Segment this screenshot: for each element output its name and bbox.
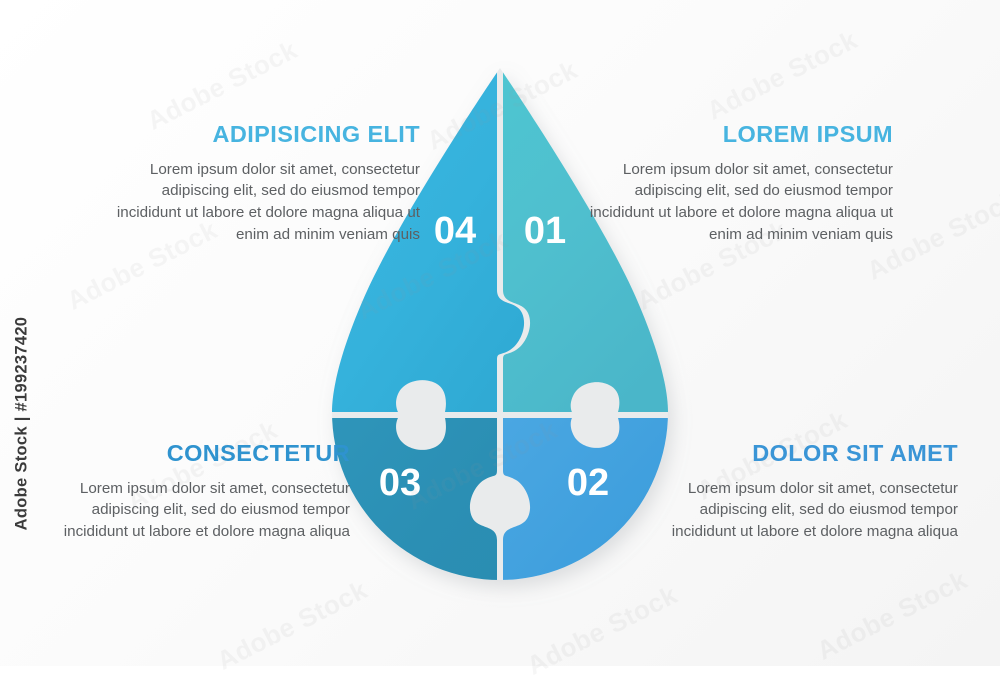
watermark-tile: Adobe Stock — [402, 414, 563, 516]
block-heading-01: LOREM IPSUM — [583, 122, 893, 148]
infographic-canvas: 04 01 03 02 Adobe Stock Adobe Stock Adob… — [0, 0, 1000, 666]
water-drop-puzzle-diagram: 04 01 03 02 — [0, 0, 1000, 666]
text-block-lorem-ipsum: LOREM IPSUM Lorem ipsum dolor sit amet, … — [583, 122, 893, 245]
piece-number-02: 02 — [567, 462, 609, 504]
text-block-consectetur: CONSECTETUR Lorem ipsum dolor sit amet, … — [40, 441, 350, 543]
block-body-02: Lorem ipsum dolor sit amet, consectetur … — [658, 478, 958, 543]
droplet-pieces — [300, 0, 720, 666]
watermark-tile: Adobe Stock — [422, 54, 583, 156]
piece-number-04: 04 — [434, 210, 476, 252]
watermark-tile: Adobe Stock — [702, 24, 863, 126]
stock-id-watermark: Adobe Stock | #199237420 — [13, 314, 32, 534]
block-heading-02: DOLOR SIT AMET — [658, 441, 958, 467]
text-block-dolor-sit-amet: DOLOR SIT AMET Lorem ipsum dolor sit ame… — [658, 441, 958, 543]
block-heading-04: ADIPISICING ELIT — [110, 122, 420, 148]
block-heading-03: CONSECTETUR — [40, 441, 350, 467]
watermark-tile: Adobe Stock — [812, 564, 973, 666]
block-body-03: Lorem ipsum dolor sit amet, consectetur … — [40, 478, 350, 543]
block-body-01: Lorem ipsum dolor sit amet, consectetur … — [583, 159, 893, 245]
piece-number-01: 01 — [524, 210, 566, 252]
watermark-tile: Adobe Stock — [522, 579, 683, 681]
piece-number-03: 03 — [379, 462, 421, 504]
text-block-adipisicing-elit: ADIPISICING ELIT Lorem ipsum dolor sit a… — [110, 122, 420, 245]
watermark-tile: Adobe Stock — [212, 574, 373, 676]
block-body-04: Lorem ipsum dolor sit amet, consectetur … — [110, 159, 420, 245]
